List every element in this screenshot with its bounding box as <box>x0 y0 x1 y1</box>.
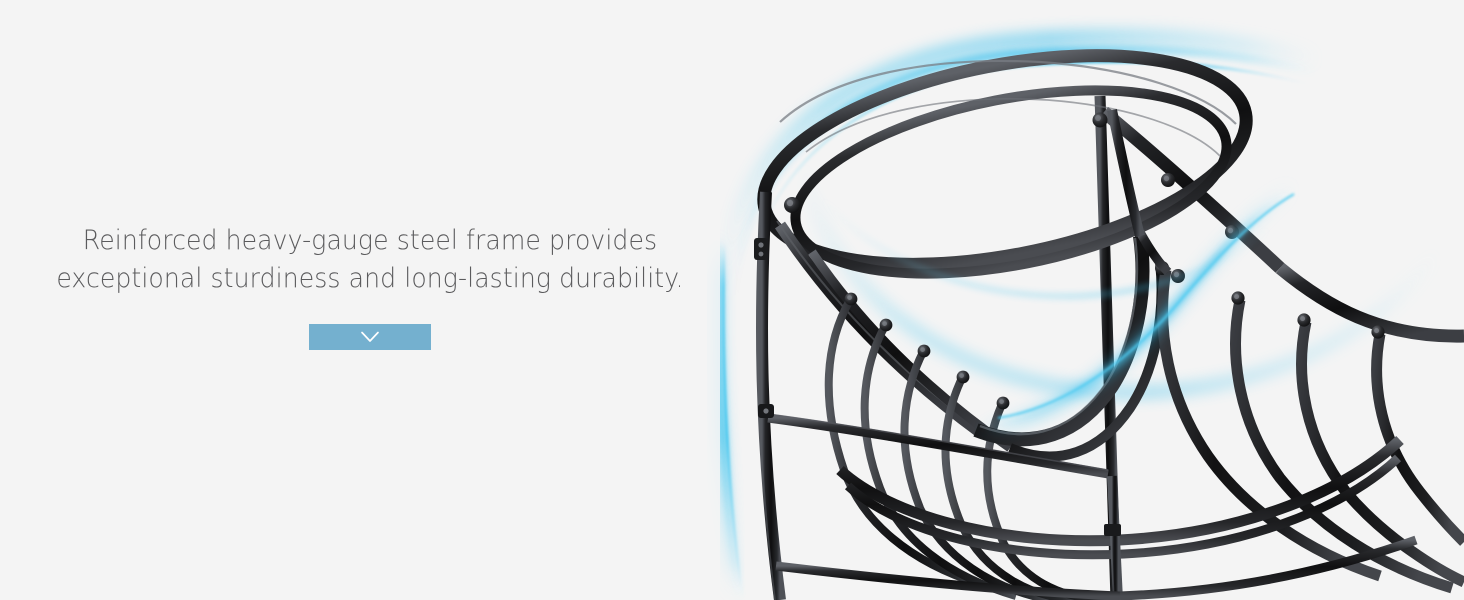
cta-container <box>0 324 740 350</box>
scroll-down-button[interactable] <box>309 324 431 350</box>
steel-frame-illustration: Black heavy-gauge tubular steel chair fr… <box>680 0 1464 600</box>
photo-left-fade <box>680 0 720 600</box>
rail-bolt-1 <box>1161 173 1175 187</box>
bracket-left-leg <box>754 238 768 260</box>
chevron-down-icon <box>360 331 380 344</box>
band-bolt-pair-3 <box>1297 313 1310 326</box>
slat-bolt-4 <box>957 371 970 384</box>
feature-description: Reinforced heavy-gauge steel frame provi… <box>0 222 740 298</box>
slat-bolt-1 <box>845 293 858 306</box>
product-image: Black heavy-gauge tubular steel chair fr… <box>680 0 1464 600</box>
slat-bolt-5 <box>997 397 1010 410</box>
description-line-2: exceptional sturdiness and long-lasting … <box>26 260 714 298</box>
band-bolt-pair-2 <box>1231 291 1244 304</box>
slat-bolt-2 <box>880 319 893 332</box>
description-line-1: Reinforced heavy-gauge steel frame provi… <box>26 222 714 260</box>
band-bolt-pair-4 <box>1371 325 1384 338</box>
bracket-stretcher-joint <box>758 404 774 418</box>
slat-bolt-3 <box>918 345 931 358</box>
bolt-rim-right <box>1093 113 1108 128</box>
bolt-rim-left <box>784 197 800 213</box>
promo-banner: Reinforced heavy-gauge steel frame provi… <box>0 0 1464 600</box>
center-post-collar <box>1104 524 1121 536</box>
